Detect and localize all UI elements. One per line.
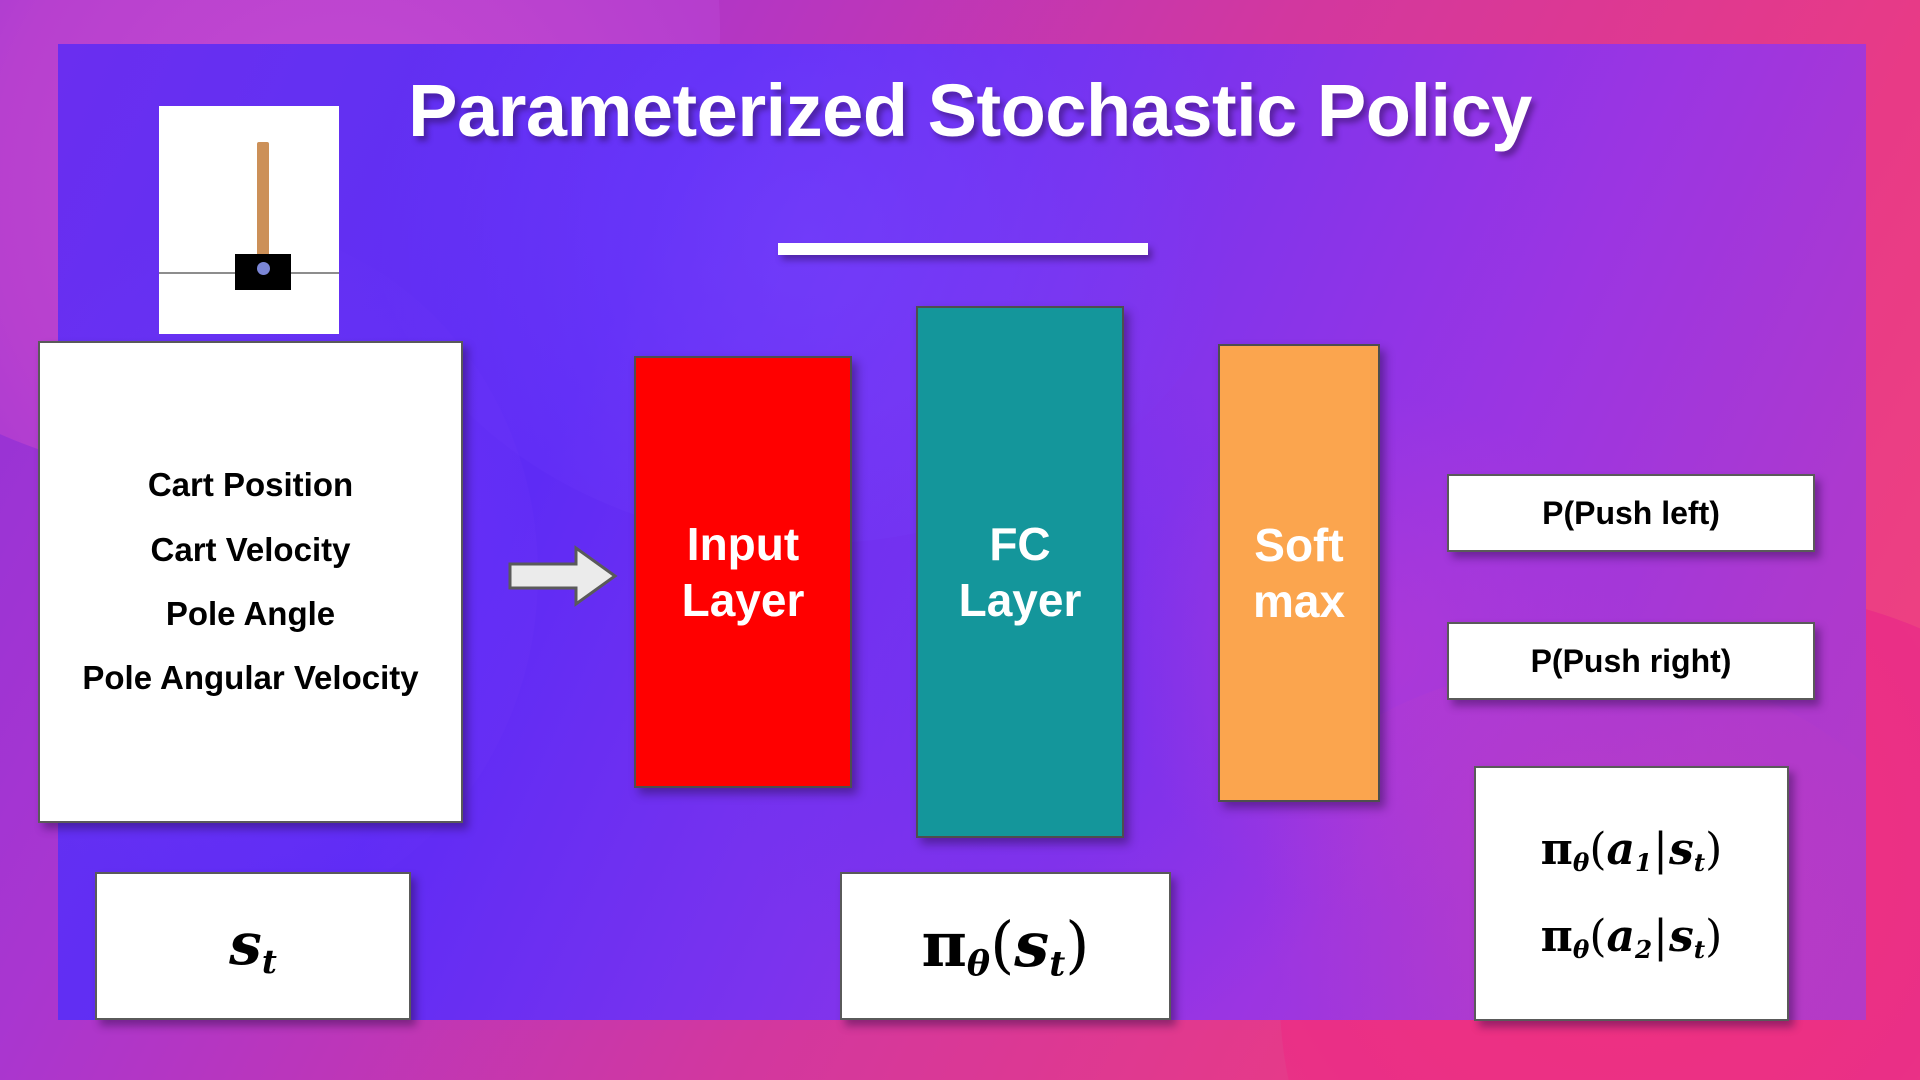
math-policy-of-state: πθ(st) bbox=[922, 908, 1090, 985]
cartpole-environment-image bbox=[159, 106, 339, 334]
output-label-push-right-text: P(Push right) bbox=[1531, 643, 1732, 680]
state-variables-panel: Cart Position Cart Velocity Pole Angle P… bbox=[38, 341, 463, 823]
layer-block-input: Input Layer bbox=[634, 356, 852, 788]
layer-block-fc: FC Layer bbox=[916, 306, 1124, 838]
title-underline-rule bbox=[778, 243, 1148, 255]
state-item-pole-angular-velocity: Pole Angular Velocity bbox=[56, 659, 445, 697]
math-action-prob-a2: πθ(a2|st) bbox=[1541, 911, 1723, 964]
math-box-policy-of-state: πθ(st) bbox=[840, 872, 1171, 1020]
state-item-pole-angle: Pole Angle bbox=[56, 595, 445, 633]
cartpole-pole bbox=[257, 142, 269, 270]
output-label-push-right: P(Push right) bbox=[1447, 622, 1815, 700]
layer-block-softmax: Soft max bbox=[1218, 344, 1380, 802]
state-item-cart-velocity: Cart Velocity bbox=[56, 531, 445, 569]
state-item-cart-position: Cart Position bbox=[56, 466, 445, 504]
math-box-action-probabilities: πθ(a1|st) πθ(a2|st) bbox=[1474, 766, 1789, 1021]
output-label-push-left: P(Push left) bbox=[1447, 474, 1815, 552]
math-action-prob-a1: πθ(a1|st) bbox=[1541, 824, 1723, 877]
output-label-push-left-text: P(Push left) bbox=[1542, 495, 1720, 532]
cartpole-axle bbox=[257, 262, 270, 275]
right-arrow-icon bbox=[508, 545, 618, 607]
slide-canvas: Parameterized Stochastic Policy Cart Pos… bbox=[0, 0, 1920, 1080]
math-state-symbol: st bbox=[229, 910, 277, 981]
slide-title: Parameterized Stochastic Policy bbox=[340, 72, 1600, 150]
math-box-state-symbol: st bbox=[95, 872, 411, 1020]
